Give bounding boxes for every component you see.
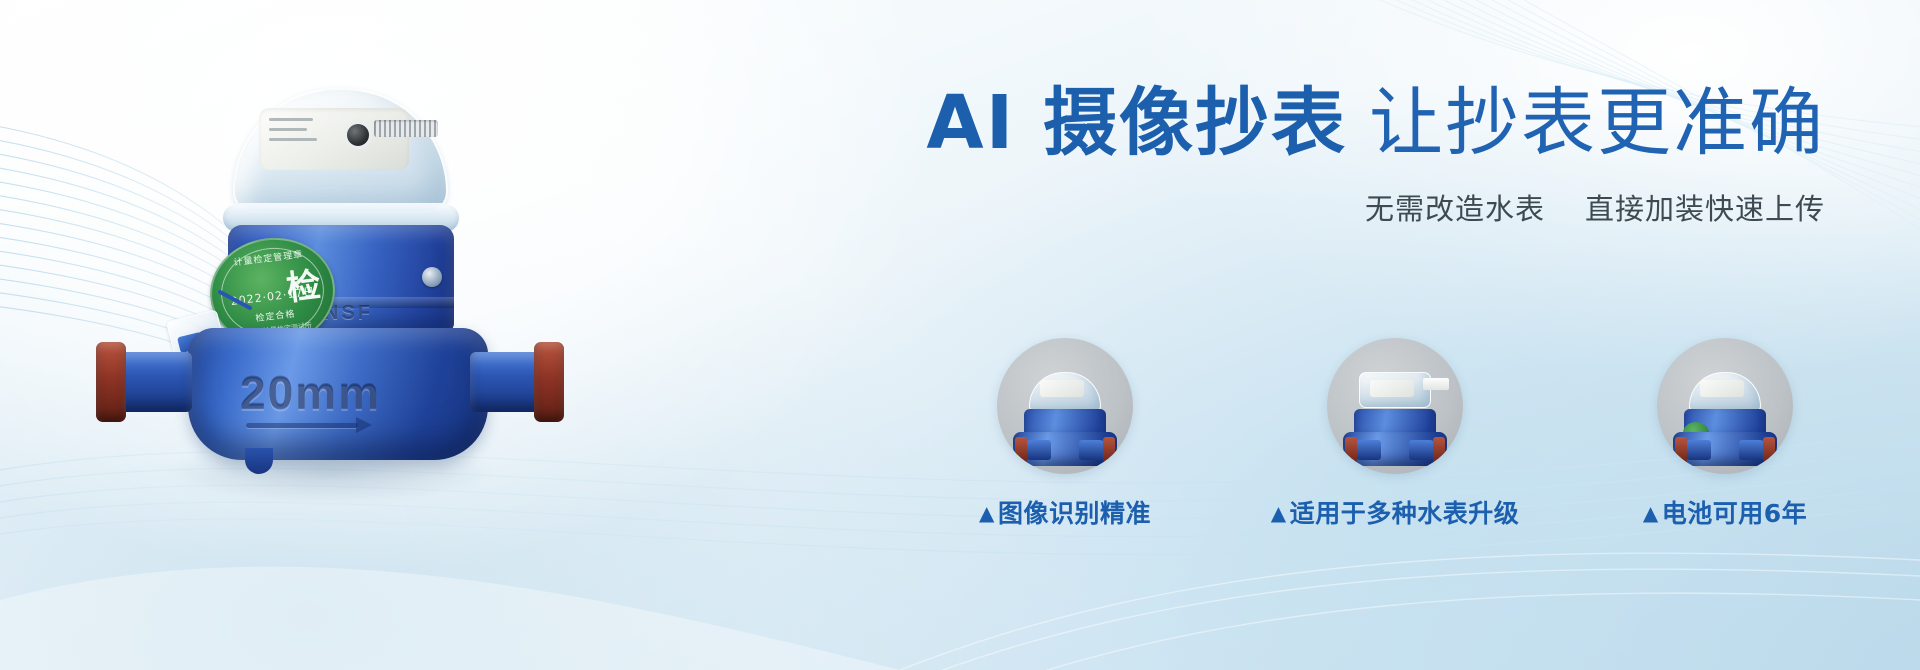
mini-pipe-left [1025, 440, 1051, 460]
meter-cast-body: 20mm [188, 328, 488, 460]
feature-thumbnail-multi-meter-upgrade[interactable] [1327, 338, 1463, 474]
camera-lens-icon [347, 124, 369, 146]
feature-caption-text: 电池可用6年 [1662, 499, 1807, 528]
triangle-marker-icon: ▲ [1643, 501, 1659, 525]
feature-item-multi-meter-upgrade[interactable]: ▲适用于多种水表升级 [1260, 338, 1530, 530]
meter-register-panel [259, 108, 409, 170]
headline-primary: AI 摄像抄表 [926, 80, 1347, 166]
feature-item-image-recognition[interactable]: ▲图像识别精准 [930, 338, 1200, 530]
mini-pipe-left [1685, 440, 1711, 460]
mini-nut-left [1675, 437, 1687, 463]
feature-caption-text: 图像识别精准 [998, 499, 1151, 528]
triangle-marker-icon: ▲ [1271, 501, 1287, 525]
mini-nut-left [1015, 437, 1027, 463]
mini-register-panel [1040, 380, 1084, 397]
mini-nut-left [1345, 437, 1357, 463]
subtitle-part-1: 无需改造水表 [1365, 192, 1545, 226]
subtitle: 无需改造水表直接加装快速上传 [560, 186, 1825, 228]
feature-item-battery-life[interactable]: ▲电池可用6年 [1590, 338, 1860, 530]
flow-direction-arrow-icon [246, 423, 358, 428]
feature-thumbnail-battery-life[interactable] [1657, 338, 1793, 474]
mini-meter-illustration [1327, 372, 1463, 450]
mini-pipe-right [1739, 440, 1765, 460]
meter-dome-cover [233, 88, 448, 213]
mini-meter-illustration [1657, 372, 1793, 450]
headline: AI 摄像抄表让抄表更准确 [560, 86, 1825, 160]
mini-nut-right [1103, 437, 1115, 463]
feature-thumbnail-image-recognition[interactable] [997, 338, 1133, 474]
hero-product-image: NSF 计量检定管理章 2022·02·17日 检 检定合格 北京市计量检定测试… [70, 70, 590, 500]
meter-nut-left [96, 342, 126, 422]
mini-spec-label [1423, 378, 1449, 390]
feature-caption-text: 适用于多种水表升级 [1290, 499, 1520, 528]
mini-pipe-right [1409, 440, 1435, 460]
mini-register-panel [1370, 380, 1414, 397]
meter-spec-label [269, 118, 317, 148]
body-size-marking: 20mm [240, 370, 381, 416]
triangle-marker-icon: ▲ [979, 501, 995, 525]
mini-pipe-right [1079, 440, 1105, 460]
feature-caption-battery-life: ▲电池可用6年 [1590, 494, 1860, 530]
meter-nut-right [534, 342, 564, 422]
subtitle-part-2: 直接加装快速上传 [1585, 192, 1825, 226]
feature-list: ▲图像识别精准 ▲适用于多种水表升级 [930, 338, 1860, 568]
cap-screw-icon [422, 267, 442, 287]
promo-banner: NSF 计量检定管理章 2022·02·17日 检 检定合格 北京市计量检定测试… [0, 0, 1920, 670]
seal-character: 检 [285, 268, 323, 306]
feature-caption-image-recognition: ▲图像识别精准 [930, 494, 1200, 530]
mini-nut-right [1763, 437, 1775, 463]
mini-register-panel [1700, 380, 1744, 397]
meter-coil-icon [374, 120, 438, 137]
mini-nut-right [1433, 437, 1445, 463]
mini-dome-flat [1359, 372, 1431, 408]
headline-secondary: 让抄表更准确 [1369, 80, 1825, 166]
mini-pipe-left [1355, 440, 1381, 460]
feature-caption-multi-meter-upgrade: ▲适用于多种水表升级 [1260, 494, 1530, 530]
banner-copy: AI 摄像抄表让抄表更准确 无需改造水表直接加装快速上传 [560, 86, 1880, 228]
mini-meter-illustration [997, 372, 1133, 450]
mini-dome [1029, 372, 1101, 412]
mini-dome [1689, 372, 1761, 412]
